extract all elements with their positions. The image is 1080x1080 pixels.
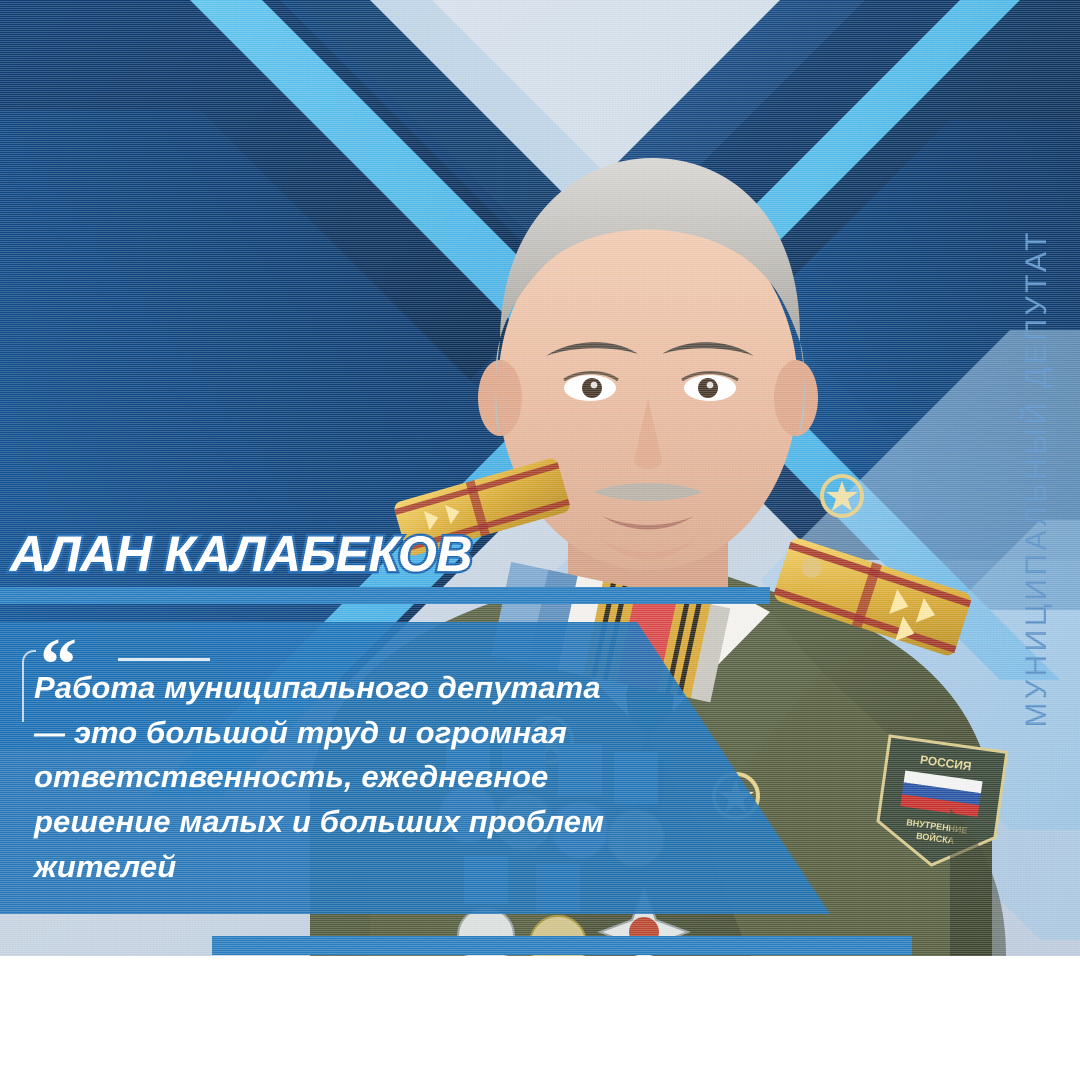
name-underline-bar <box>0 587 770 604</box>
quote-divider-rule <box>118 658 210 661</box>
card-canvas: РОССИЯ ВНУТРЕННИЕ ВОЙСКА МУНИЦИПАЛЬНЫЙ Д… <box>0 0 1080 956</box>
collar-emblem-top <box>822 476 862 516</box>
person-name: АЛАН КАЛАБЕКОВ <box>10 529 472 579</box>
quote-text: Работа муниципального депутата — это бол… <box>34 666 624 889</box>
footer: ПОЛИТ МО КВА С <box>0 956 1080 1080</box>
name-plate: АЛАН КАЛАБЕКОВ <box>10 523 480 585</box>
accent-bar <box>212 936 912 955</box>
social-card: РОССИЯ ВНУТРЕННИЕ ВОЙСКА МУНИЦИПАЛЬНЫЙ Д… <box>0 0 1080 1080</box>
